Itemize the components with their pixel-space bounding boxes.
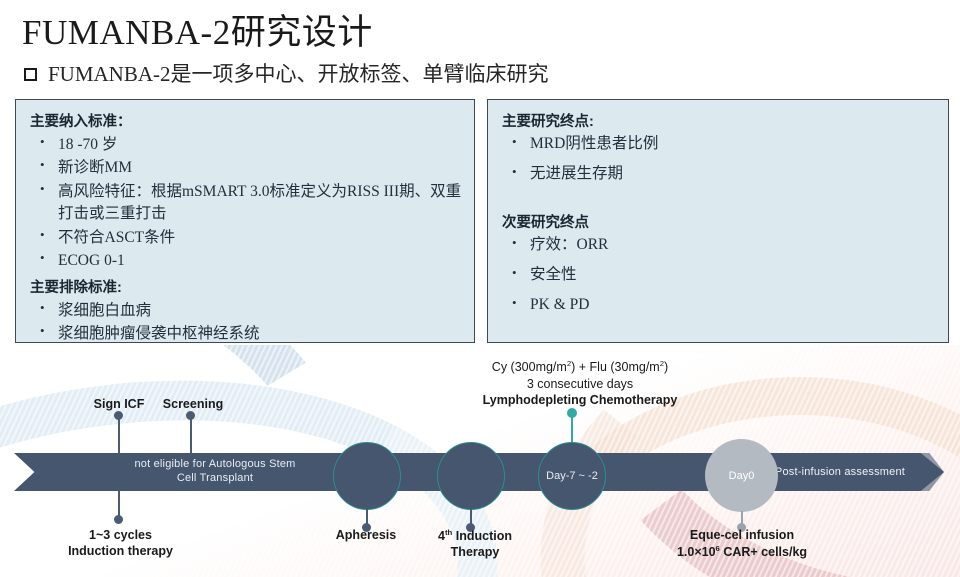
timeline-node-day-range: Day-7 ~ -2 bbox=[538, 442, 606, 510]
list-item: 高风险特征：根据mSMART 3.0标准定义为RISS III期、双重打击或三重… bbox=[38, 181, 462, 226]
timeline-label-screening: Screening bbox=[148, 397, 238, 413]
timeline-node-induction4 bbox=[437, 442, 505, 510]
spacer bbox=[502, 194, 936, 211]
exclusion-criteria-heading: 主要排除标准: bbox=[30, 276, 462, 297]
list-item: 新诊断MM bbox=[38, 157, 462, 179]
inclusion-criteria-heading: 主要纳入标准： bbox=[30, 110, 462, 131]
band-label-asct-line2: Cell Transplant bbox=[90, 471, 340, 485]
timeline-node-day0: Day0 bbox=[705, 439, 778, 512]
chemo-days-line: 3 consecutive days bbox=[430, 376, 730, 393]
exclusion-criteria-list: 浆细胞白血病 浆细胞肿瘤侵袭中枢神经系统 bbox=[38, 300, 462, 346]
infusion-line1: Eque-cel infusion bbox=[648, 528, 836, 544]
list-item: PK & PD bbox=[510, 295, 936, 316]
study-timeline: Sign ICF Screening Cy (300mg/m2) + Flu (… bbox=[0, 345, 960, 577]
infusion-line2: 1.0×106 CAR+ cells/kg bbox=[648, 544, 836, 561]
induction-line2: Induction therapy bbox=[58, 544, 183, 560]
connector-dot-sign-icf bbox=[114, 411, 123, 420]
band-label-asct: not eligible for Autologous Stem Cell Tr… bbox=[90, 457, 340, 485]
list-item: 无进展生存期 bbox=[510, 164, 936, 185]
timeline-label-infusion: Eque-cel infusion 1.0×106 CAR+ cells/kg bbox=[648, 528, 836, 560]
band-label-asct-line1: not eligible for Autologous Stem bbox=[90, 457, 340, 471]
timeline-label-apheresis: Apheresis bbox=[316, 528, 416, 544]
list-item: 疗效：ORR bbox=[510, 235, 936, 256]
secondary-endpoint-heading: 次要研究终点 bbox=[502, 211, 936, 232]
list-item: 18 -70 岁 bbox=[38, 134, 462, 156]
list-item: ECOG 0-1 bbox=[38, 250, 462, 272]
primary-endpoint-heading: 主要研究终点: bbox=[502, 110, 936, 131]
subheading-text: FUMANBA-2是一项多中心、开放标签、单臂临床研究 bbox=[48, 58, 549, 88]
inclusion-exclusion-panel: 主要纳入标准： 18 -70 岁 新诊断MM 高风险特征：根据mSMART 3.… bbox=[15, 99, 475, 343]
timeline-label-induction4: 4th Induction Therapy bbox=[420, 528, 530, 560]
chemo-dose-line: Cy (300mg/m2) + Flu (30mg/m2) bbox=[430, 359, 730, 376]
page-title: FUMANBA-2研究设计 bbox=[22, 4, 373, 55]
square-outline-bullet-icon bbox=[24, 68, 37, 81]
timeline-caption-lymphodepleting: Cy (300mg/m2) + Flu (30mg/m2) 3 consecut… bbox=[430, 359, 730, 409]
secondary-endpoint-list: 疗效：ORR 安全性 PK & PD bbox=[510, 235, 936, 316]
connector-dot-induction bbox=[114, 515, 123, 524]
induction4-line1: 4th Induction bbox=[420, 528, 530, 545]
induction4-line2: Therapy bbox=[420, 545, 530, 561]
primary-endpoint-list: MRD阴性患者比例 无进展生存期 bbox=[510, 134, 936, 185]
timeline-node-apheresis bbox=[333, 442, 401, 510]
list-item: MRD阴性患者比例 bbox=[510, 134, 936, 155]
list-item: 浆细胞肿瘤侵袭中枢神经系统 bbox=[38, 323, 462, 345]
connector-dot-lymphodepleting bbox=[567, 408, 577, 418]
endpoints-panel: 主要研究终点: MRD阴性患者比例 无进展生存期 次要研究终点 疗效：ORR 安… bbox=[487, 99, 949, 343]
inclusion-criteria-list: 18 -70 岁 新诊断MM 高风险特征：根据mSMART 3.0标准定义为RI… bbox=[38, 134, 462, 273]
induction-line1: 1~3 cycles bbox=[58, 528, 183, 544]
list-item: 安全性 bbox=[510, 265, 936, 286]
subheading: FUMANBA-2是一项多中心、开放标签、单臂临床研究 bbox=[24, 58, 549, 88]
chemo-title-line: Lymphodepleting Chemotherapy bbox=[430, 392, 730, 409]
timeline-label-induction: 1~3 cycles Induction therapy bbox=[58, 528, 183, 559]
list-item: 不符合ASCT条件 bbox=[38, 227, 462, 249]
connector-dot-screening bbox=[186, 411, 195, 420]
list-item: 浆细胞白血病 bbox=[38, 300, 462, 322]
